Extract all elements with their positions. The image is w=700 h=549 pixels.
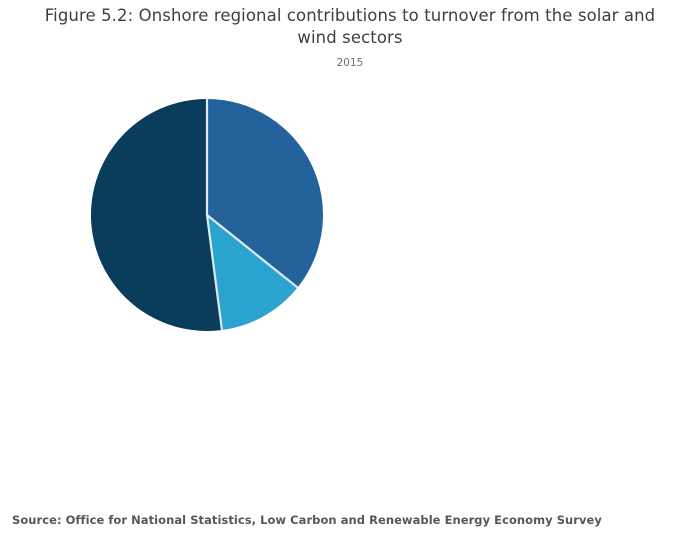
figure-container: Figure 5.2: Onshore regional contributio… <box>0 0 700 549</box>
pie-slice-group <box>91 99 323 331</box>
pie-chart-svg <box>83 91 331 339</box>
pie-chart <box>83 91 331 339</box>
source-note: Source: Office for National Statistics, … <box>12 512 688 528</box>
page-title: Figure 5.2: Onshore regional contributio… <box>30 5 670 49</box>
pie-slice[interactable] <box>91 99 222 331</box>
chart-subtitle: 2015 <box>30 56 670 70</box>
